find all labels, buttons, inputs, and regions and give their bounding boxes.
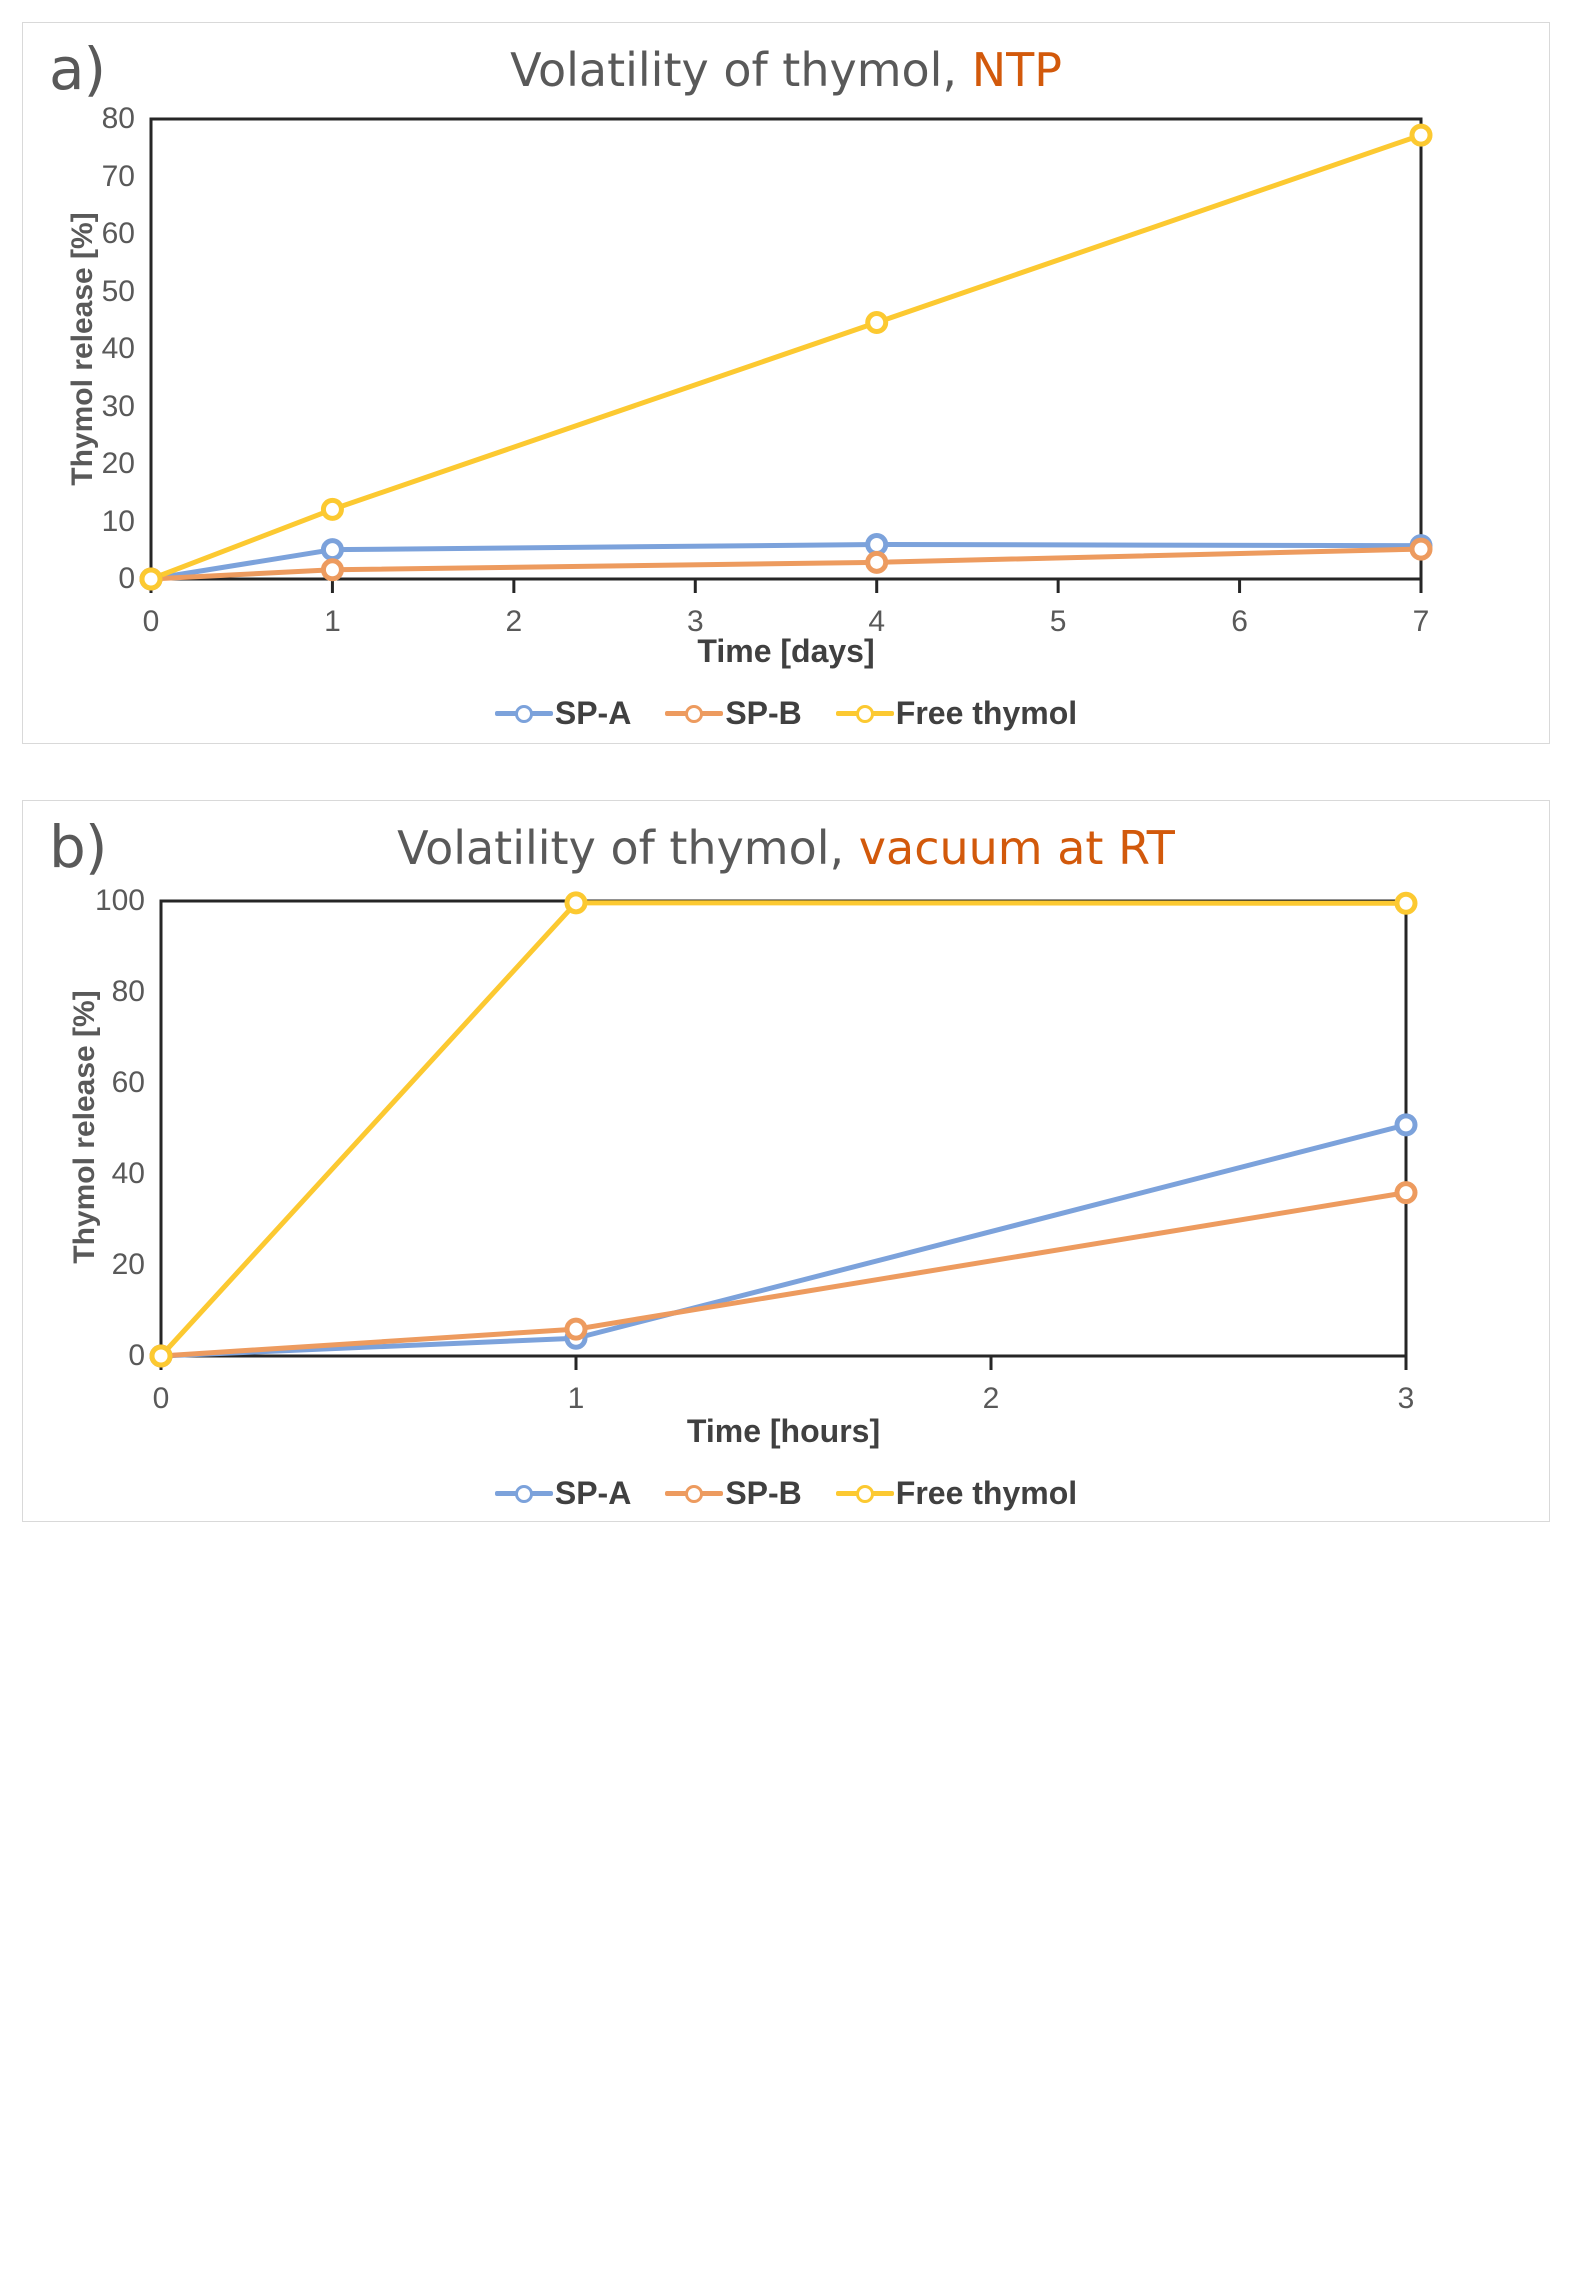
series-line-free-thymol	[161, 903, 1406, 1356]
chart-panel-b: b) Volatility of thymol, vacuum at RT Th…	[22, 800, 1550, 1522]
legend-item-sp-a[interactable]: SP-A	[495, 1475, 631, 1512]
legend-marker-icon	[495, 1481, 553, 1507]
data-point-marker	[1412, 540, 1430, 558]
plot-area-a: Thymol release [%]0102030405060708001234…	[23, 23, 1549, 743]
data-point-marker	[323, 561, 341, 579]
legend-label: SP-B	[725, 695, 801, 732]
legend-marker-icon	[665, 701, 723, 727]
data-point-marker	[1397, 1184, 1415, 1202]
chart-panel-a: a) Volatility of thymol, NTP Thymol rele…	[22, 22, 1550, 744]
data-point-marker	[567, 1320, 585, 1338]
legend-marker-icon	[836, 1481, 894, 1507]
legend-item-free-thymol[interactable]: Free thymol	[836, 695, 1077, 732]
series-line-sp-b	[161, 1193, 1406, 1356]
legend-item-sp-a[interactable]: SP-A	[495, 695, 631, 732]
data-point-marker	[868, 314, 886, 332]
plot-a-legend: SP-ASP-BFree thymol	[23, 695, 1549, 732]
data-point-marker	[152, 1347, 170, 1365]
data-point-marker	[323, 541, 341, 559]
legend-item-free-thymol[interactable]: Free thymol	[836, 1475, 1077, 1512]
legend-marker-icon	[665, 1481, 723, 1507]
data-point-marker	[1397, 894, 1415, 912]
data-point-marker	[142, 570, 160, 588]
data-point-marker	[323, 500, 341, 518]
data-point-marker	[567, 894, 585, 912]
legend-item-sp-b[interactable]: SP-B	[665, 1475, 801, 1512]
legend-label: Free thymol	[896, 1475, 1077, 1512]
series-line-sp-a	[161, 1125, 1406, 1356]
legend-label: SP-B	[725, 1475, 801, 1512]
legend-label: SP-A	[555, 1475, 631, 1512]
data-point-marker	[1412, 126, 1430, 144]
data-point-marker	[868, 536, 886, 554]
plot-b-legend: SP-ASP-BFree thymol	[23, 1475, 1549, 1512]
legend-label: Free thymol	[896, 695, 1077, 732]
data-point-marker	[868, 553, 886, 571]
plot-b-svg	[23, 801, 1551, 1523]
legend-marker-icon	[836, 701, 894, 727]
plot-frame	[161, 901, 1406, 1356]
plot-area-b: Thymol release [%]0204060801000123Time […	[23, 801, 1549, 1521]
legend-marker-icon	[495, 701, 553, 727]
data-point-marker	[1397, 1116, 1415, 1134]
plot-a-svg	[23, 23, 1551, 745]
legend-item-sp-b[interactable]: SP-B	[665, 695, 801, 732]
legend-label: SP-A	[555, 695, 631, 732]
